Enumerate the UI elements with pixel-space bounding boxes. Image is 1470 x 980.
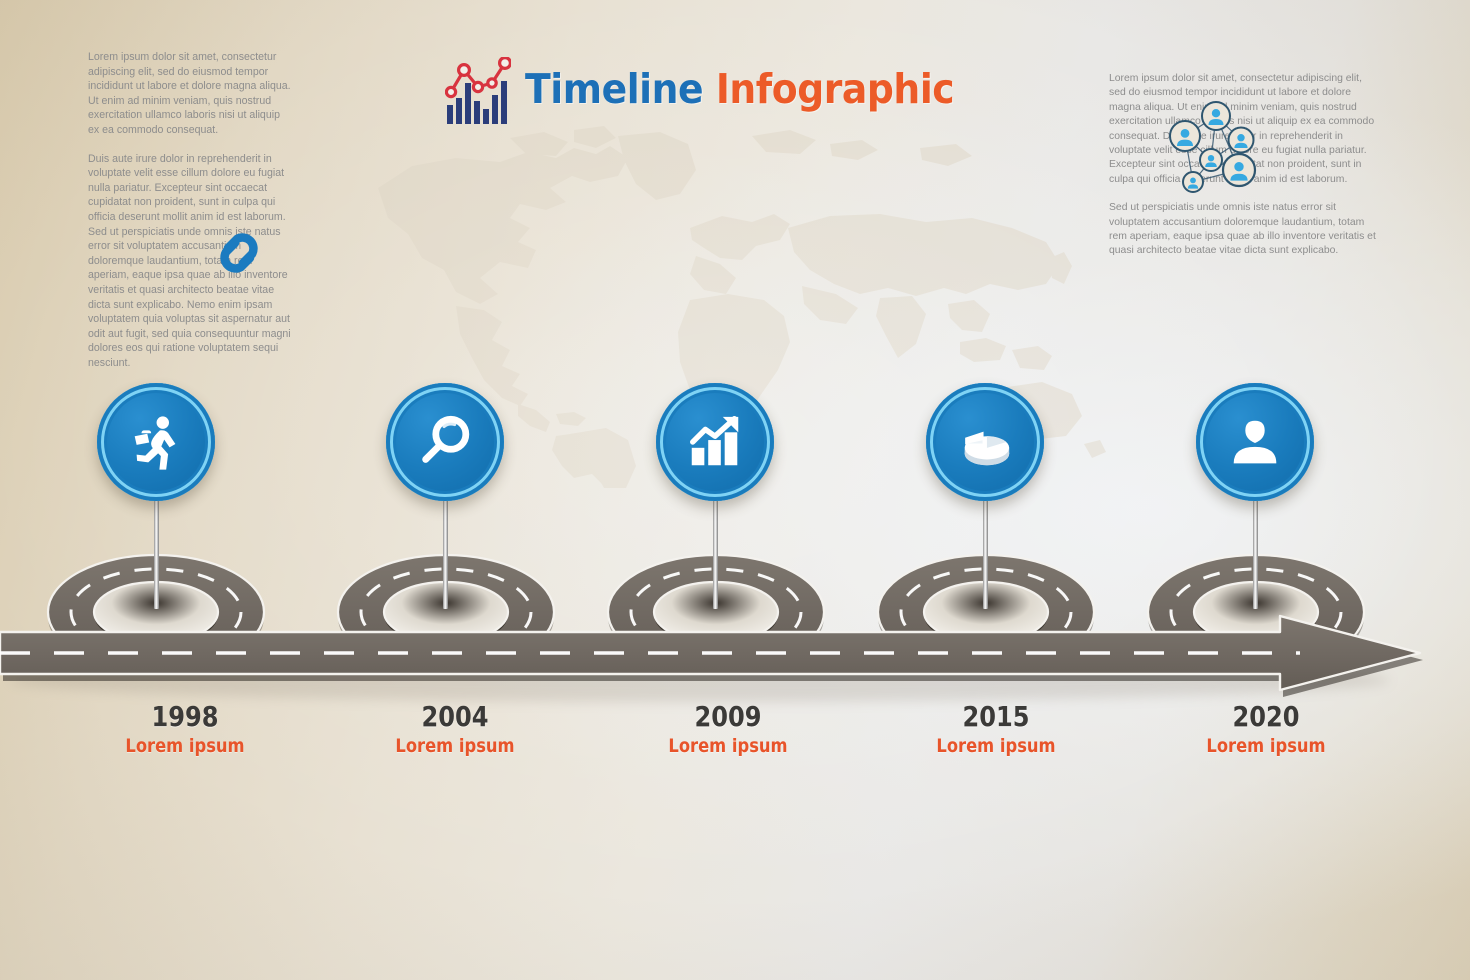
milestone-pin-2009[interactable]	[656, 383, 774, 613]
magnifier-search-icon	[414, 411, 476, 473]
title-orange-word: Infographic	[716, 65, 954, 113]
people-network-icon	[1167, 94, 1267, 202]
milestone-label-2009: 2009 Lorem ipsum	[608, 702, 848, 758]
pin-disc[interactable]	[97, 383, 215, 501]
bar-chart-growth-icon	[684, 411, 746, 473]
milestone-subtitle: Lorem ipsum	[1163, 734, 1369, 758]
milestone-label-1998: 1998 Lorem ipsum	[65, 702, 305, 758]
pie-chart-icon	[954, 411, 1016, 473]
pin-disc[interactable]	[386, 383, 504, 501]
milestone-subtitle: Lorem ipsum	[625, 734, 831, 758]
pin-disc[interactable]	[656, 383, 774, 501]
milestone-year: 2009	[625, 702, 831, 732]
milestone-label-2020: 2020 Lorem ipsum	[1146, 702, 1386, 758]
chain-link-icon	[208, 225, 270, 281]
pin-disc[interactable]	[926, 383, 1044, 501]
line-bar-chart-icon	[445, 57, 511, 125]
right-description-block: Lorem ipsum dolor sit amet, consectetur …	[1109, 72, 1376, 273]
milestone-pin-2020[interactable]	[1196, 383, 1314, 613]
milestone-pin-2004[interactable]	[386, 383, 504, 613]
page-title: Timeline Infographic	[445, 48, 1065, 130]
left-description-block: Lorem ipsum dolor sit amet, consectetur …	[88, 50, 293, 384]
right-paragraph-2: Sed ut perspiciatis unde omnis iste natu…	[1109, 201, 1376, 259]
milestone-subtitle: Lorem ipsum	[893, 734, 1099, 758]
milestone-subtitle: Lorem ipsum	[352, 734, 558, 758]
user-person-icon	[1224, 411, 1286, 473]
milestone-year: 2020	[1163, 702, 1369, 732]
title-blue-word: Timeline	[525, 65, 703, 113]
milestone-subtitle: Lorem ipsum	[82, 734, 288, 758]
milestone-year: 2004	[352, 702, 558, 732]
milestone-label-2004: 2004 Lorem ipsum	[335, 702, 575, 758]
left-paragraph-1: Lorem ipsum dolor sit amet, consectetur …	[88, 50, 293, 138]
milestone-label-2015: 2015 Lorem ipsum	[876, 702, 1116, 758]
milestone-pin-1998[interactable]	[97, 383, 215, 613]
running-businessman-icon	[125, 411, 187, 473]
milestone-pin-2015[interactable]	[926, 383, 1044, 613]
pin-disc[interactable]	[1196, 383, 1314, 501]
infographic-canvas: Lorem ipsum dolor sit amet, consectetur …	[0, 0, 1470, 980]
milestone-year: 2015	[893, 702, 1099, 732]
title-text: Timeline Infographic	[525, 65, 954, 113]
milestone-year: 1998	[82, 702, 288, 732]
